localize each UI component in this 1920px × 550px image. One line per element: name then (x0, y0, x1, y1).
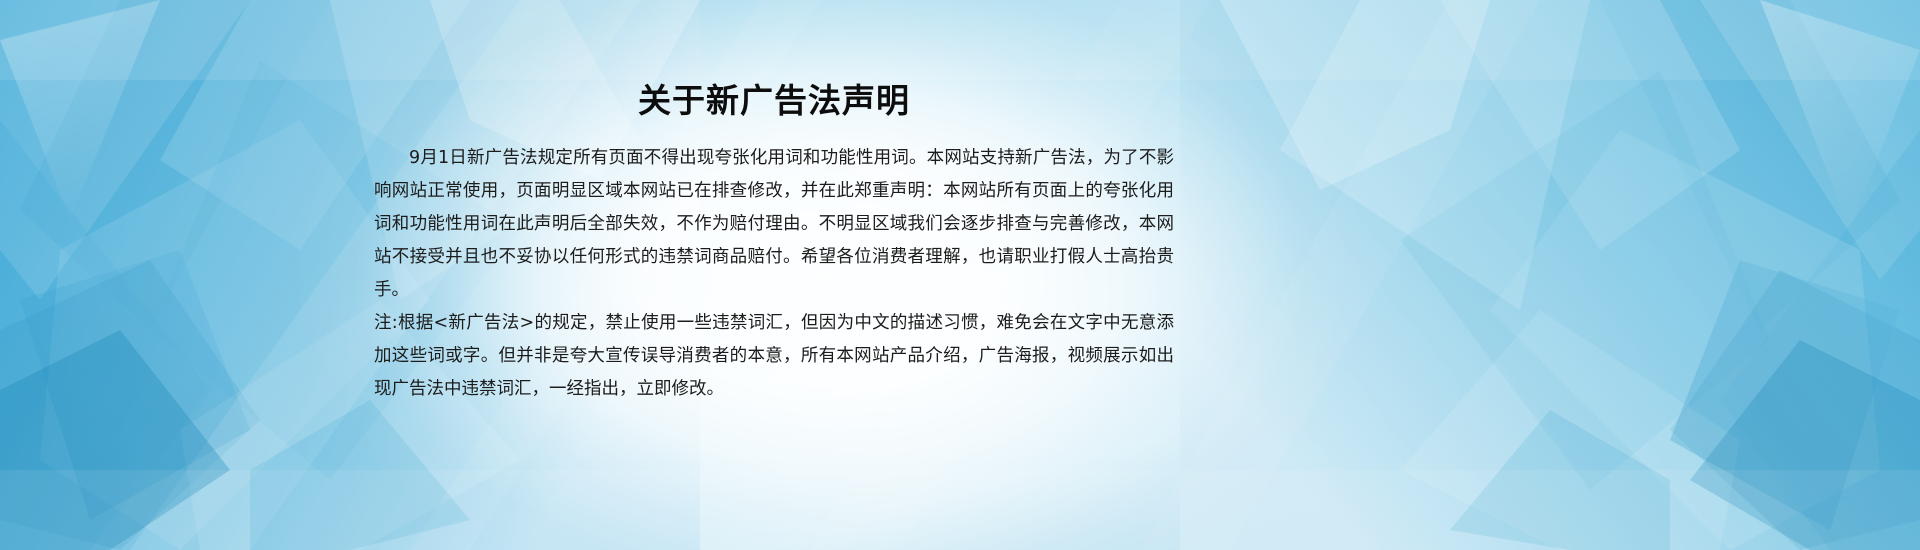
paragraph-main-statement: 9月1日新广告法规定所有页面不得出现夸张化用词和功能性用词。本网站支持新广告法，… (374, 142, 1174, 307)
paragraph-note-statement: 注:根据<新广告法>的规定，禁止使用一些违禁词汇，但因为中文的描述习惯，难免会在… (374, 307, 1174, 406)
statement-body: 9月1日新广告法规定所有页面不得出现夸张化用词和功能性用词。本网站支持新广告法，… (374, 142, 1174, 406)
statement-block: 关于新广告法声明 9月1日新广告法规定所有页面不得出现夸张化用词和功能性用词。本… (374, 78, 1174, 406)
banner-root: 关于新广告法声明 9月1日新广告法规定所有页面不得出现夸张化用词和功能性用词。本… (0, 0, 1920, 550)
content-layer: 关于新广告法声明 9月1日新广告法规定所有页面不得出现夸张化用词和功能性用词。本… (0, 0, 1920, 550)
page-title: 关于新广告法声明 (374, 78, 1174, 124)
